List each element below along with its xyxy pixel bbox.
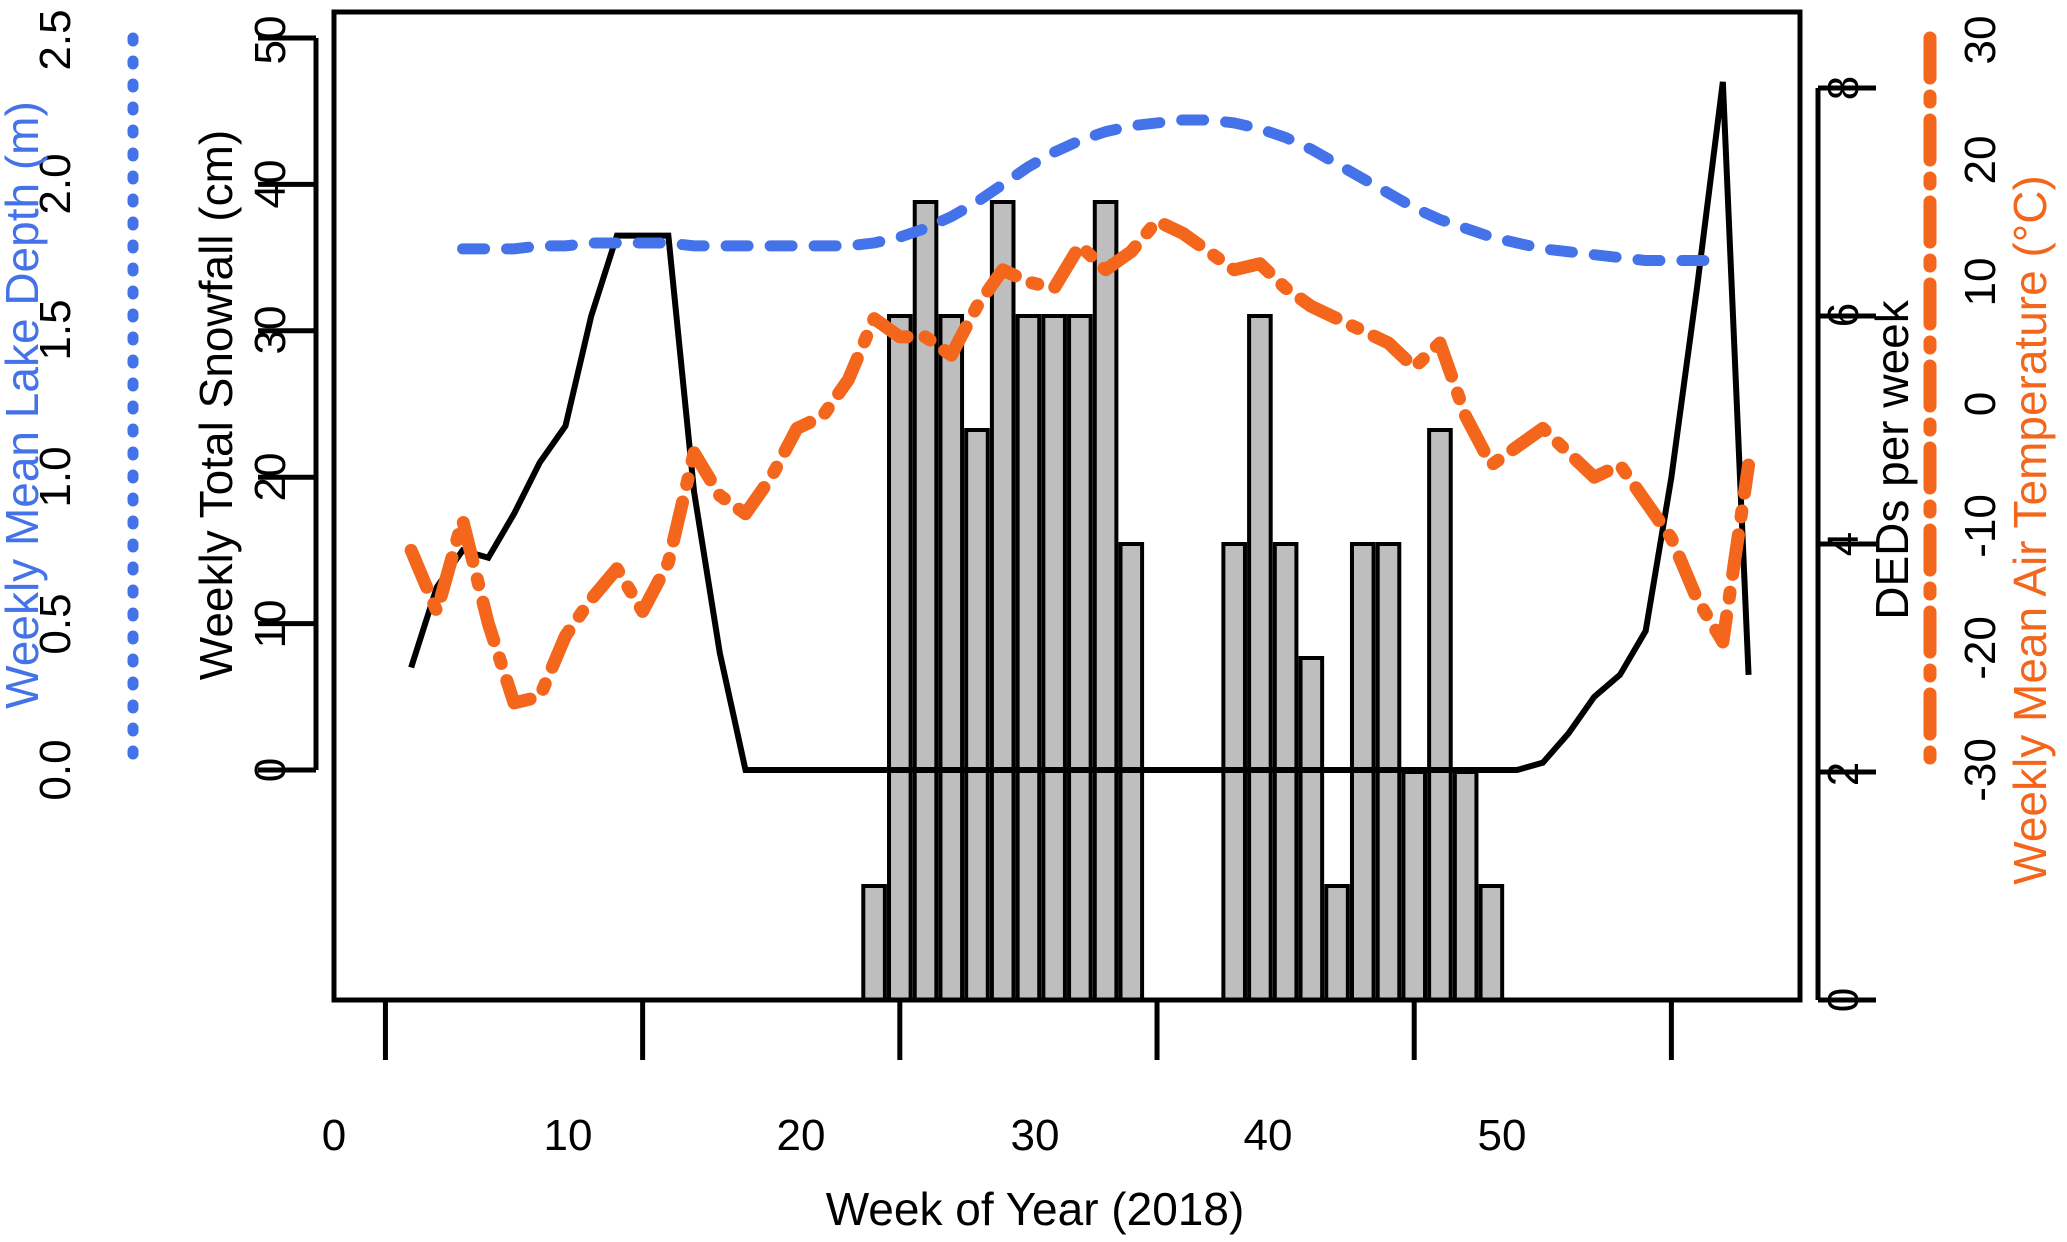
lake-depth-tick-0: 0.0	[31, 739, 80, 800]
deds-bar	[1455, 772, 1477, 1000]
air-temp-tick-4: 10	[1956, 258, 2005, 307]
lake-depth-tick-5: 2.5	[31, 9, 80, 70]
deds-bar	[940, 316, 962, 1000]
air-temp-axis-title: Weekly Mean Air Temperature (°C)	[2004, 175, 2056, 885]
deds-bar	[1043, 316, 1065, 1000]
air-temp-tick-3: 0	[1956, 392, 2005, 416]
air-temp-tick-1: -20	[1956, 616, 2005, 680]
deds-bar	[863, 886, 885, 1000]
x-tick-label-20: 20	[777, 1111, 826, 1160]
deds-bar	[1429, 430, 1451, 1000]
deds-bar	[1481, 886, 1503, 1000]
deds-tick-2: 4	[1819, 532, 1868, 556]
plot-area	[334, 12, 1800, 1000]
axis-week-of-year: 0 10 20 30 40 50 Week of Year (2018)	[322, 1000, 1800, 1235]
deds-bar	[1249, 316, 1271, 1000]
deds-axis-title: DEDs per week	[1866, 299, 1918, 620]
deds-bar	[966, 430, 988, 1000]
deds-bar	[1326, 886, 1348, 1000]
deds-bar	[1069, 316, 1091, 1000]
axis-air-temperature: -30 -20 -10 0 10 20 30 Weekly Mean Air T…	[1930, 16, 2056, 885]
x-axis-title: Week of Year (2018)	[826, 1183, 1245, 1235]
air-temp-tick-6: 30	[1956, 16, 2005, 65]
x-tick-label-40: 40	[1244, 1111, 1293, 1160]
snowfall-axis-title: Weekly Total Snowfall (cm)	[190, 130, 242, 680]
snowfall-axis-ticks	[258, 38, 316, 770]
x-tick-label-30: 30	[1011, 1111, 1060, 1160]
air-temp-tick-2: -10	[1956, 494, 2005, 558]
x-tick-label-0: 0	[322, 1111, 346, 1160]
deds-bar	[889, 316, 911, 1000]
deds-bar	[1018, 316, 1040, 1000]
x-tick-label-50: 50	[1478, 1111, 1527, 1160]
axis-deds: 0 2 4 6 8 DEDs per week	[1818, 76, 1918, 1012]
multi-axis-timeseries-chart: 0.0 0.5 1.0 1.5 2.0 2.5 Weekly Mean Lake…	[0, 0, 2067, 1242]
deds-tick-3: 6	[1819, 303, 1868, 327]
air-temp-tick-0: -30	[1956, 738, 2005, 802]
air-temp-tick-5: 20	[1956, 136, 2005, 185]
plot-frame	[334, 12, 1800, 1000]
axis-snowfall: 0 10 20 30 40 50 Weekly Total Snowfall (…	[190, 16, 316, 783]
deds-bar	[915, 202, 937, 1000]
axis-lake-depth: 0.0 0.5 1.0 1.5 2.0 2.5 Weekly Mean Lake…	[0, 9, 133, 800]
x-tick-label-10: 10	[544, 1111, 593, 1160]
figure-canvas: 0.0 0.5 1.0 1.5 2.0 2.5 Weekly Mean Lake…	[0, 0, 2067, 1242]
deds-tick-0: 0	[1819, 988, 1868, 1012]
deds-bar	[992, 202, 1014, 1000]
deds-tick-1: 2	[1819, 762, 1868, 786]
lake-depth-axis-title: Weekly Mean Lake Depth (m)	[0, 101, 48, 709]
deds-bar	[1301, 658, 1323, 1000]
x-axis-ticks	[385, 1000, 1671, 1060]
deds-tick-4: 8	[1819, 76, 1868, 100]
deds-bar	[1403, 772, 1425, 1000]
deds-bar	[1095, 202, 1117, 1000]
